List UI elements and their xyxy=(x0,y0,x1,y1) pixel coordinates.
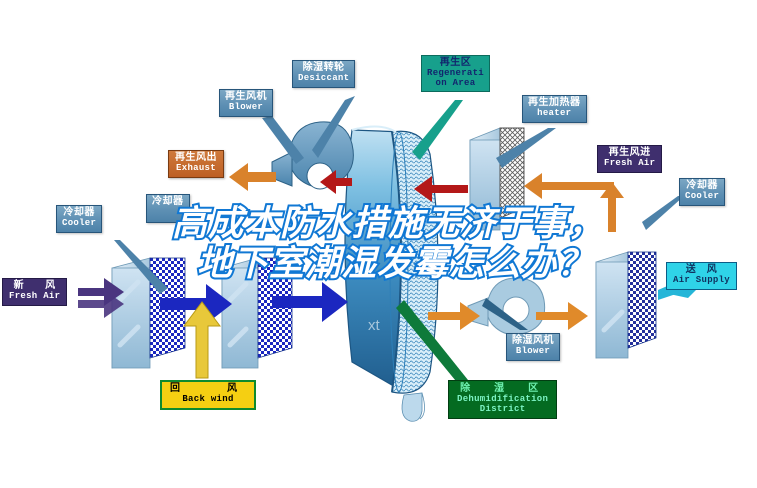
label-cooler-left-1[interactable]: 冷却器 Cooler xyxy=(56,205,102,233)
arrow-fresh-air-horizontal xyxy=(524,173,614,199)
label-cooler-left-1-en: Cooler xyxy=(62,219,96,229)
label-regen-fresh-air[interactable]: 再生风进 Fresh Air xyxy=(597,145,662,173)
diagram-canvas: xt xyxy=(0,0,757,488)
label-fresh-air-in[interactable]: 新 风 Fresh Air xyxy=(2,278,67,306)
label-regen-exhaust-en: Exhaust xyxy=(175,164,217,174)
label-dehum-blower-en: Blower xyxy=(512,347,554,357)
label-cooler-left-2[interactable]: 冷却器 xyxy=(146,194,190,223)
cooler-block-left-2 xyxy=(222,258,292,368)
label-cooler-right[interactable]: 冷却器 Cooler xyxy=(679,178,725,206)
label-cooler-right-en: Cooler xyxy=(685,192,719,202)
label-regeneration-area-en2: on Area xyxy=(427,79,484,89)
label-desiccant-wheel[interactable]: 除湿转轮 Desiccant xyxy=(292,60,355,88)
label-dehum-district-en2: District xyxy=(457,405,548,415)
label-regen-heater-en: heater xyxy=(528,109,581,119)
desiccant-rotor: xt xyxy=(345,126,438,421)
dehumidification-blower xyxy=(468,278,545,335)
label-fresh-air-in-en: Fresh Air xyxy=(9,292,60,302)
cooler-block-right xyxy=(596,252,656,358)
label-cooler-left-2-cn: 冷却器 xyxy=(152,197,184,208)
dehumidifier-schematic-svg: xt xyxy=(0,0,757,488)
label-regen-fresh-air-en: Fresh Air xyxy=(604,159,655,169)
label-air-supply[interactable]: 送 风 Air Supply xyxy=(666,262,737,290)
label-back-wind-en: Back wind xyxy=(170,395,246,405)
arrow-exhaust-orange xyxy=(229,163,276,191)
label-air-supply-en: Air Supply xyxy=(673,276,730,286)
watermark-text: xt xyxy=(368,317,381,334)
label-regen-blower[interactable]: 再生风机 Blower xyxy=(219,89,273,117)
label-regen-blower-en: Blower xyxy=(225,103,267,113)
label-regeneration-area[interactable]: 再生区 Regenerati on Area xyxy=(421,55,490,92)
label-dehum-district[interactable]: 除 湿 区 Dehumidification District xyxy=(448,380,557,419)
label-regen-exhaust[interactable]: 再生风出 Exhaust xyxy=(168,150,224,178)
label-back-wind[interactable]: 回 风 Back wind xyxy=(160,380,256,410)
label-regen-heater[interactable]: 再生加热器 heater xyxy=(522,95,587,123)
label-desiccant-wheel-en: Desiccant xyxy=(298,74,349,84)
regen-heater-block xyxy=(470,128,524,230)
label-dehum-blower[interactable]: 除湿风机 Blower xyxy=(506,333,560,361)
